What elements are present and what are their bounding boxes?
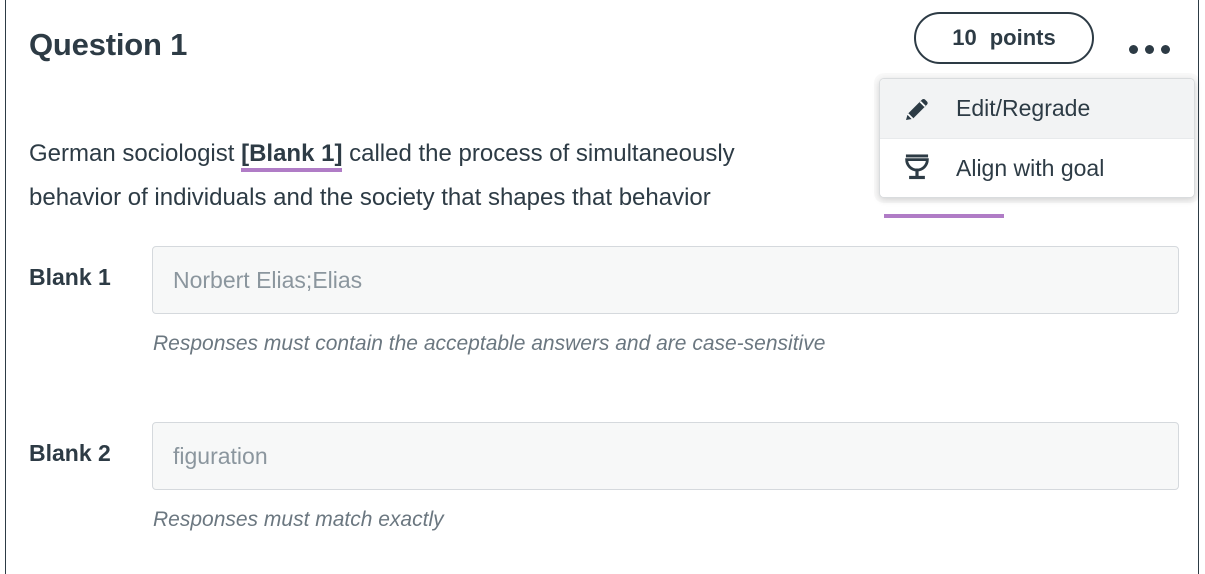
- blank-1-input[interactable]: [152, 246, 1179, 314]
- question-preview-screen: Question 1 10 points German sociologist …: [0, 0, 1205, 574]
- outcome-trophy-icon: [898, 151, 936, 185]
- points-badge: 10 points: [914, 12, 1094, 64]
- menu-item-align-with-goal[interactable]: Align with goal: [880, 138, 1194, 197]
- points-label: points: [990, 25, 1056, 51]
- kebab-dot-icon: [1145, 45, 1154, 54]
- question-header: Question 1 10 points: [6, 0, 1198, 86]
- blank-2-input[interactable]: [152, 422, 1179, 490]
- kebab-dot-icon: [1161, 45, 1170, 54]
- blank-2-reference-underline: [884, 214, 1004, 218]
- blank-1-label: Blank 1: [29, 264, 111, 291]
- body-text-after-blank: called the process of simultaneously: [342, 140, 734, 167]
- menu-item-label: Edit/Regrade: [956, 97, 1090, 120]
- points-value: 10: [952, 25, 976, 51]
- question-options-menu: Edit/Regrade Align with goal: [879, 78, 1195, 198]
- more-options-button[interactable]: [1124, 24, 1174, 74]
- blank-1-reference: [Blank 1]: [241, 140, 342, 172]
- menu-item-label: Align with goal: [956, 157, 1104, 180]
- body-text-before-blank: German sociologist: [29, 140, 241, 167]
- page-title: Question 1: [29, 28, 187, 62]
- menu-item-edit-regrade[interactable]: Edit/Regrade: [880, 79, 1194, 138]
- pencil-icon: [898, 92, 936, 126]
- blank-2-hint: Responses must match exactly: [153, 508, 444, 532]
- kebab-dot-icon: [1129, 45, 1138, 54]
- blank-1-hint: Responses must contain the acceptable an…: [153, 332, 825, 356]
- blank-2-label: Blank 2: [29, 440, 111, 467]
- question-card: Question 1 10 points German sociologist …: [5, 0, 1199, 574]
